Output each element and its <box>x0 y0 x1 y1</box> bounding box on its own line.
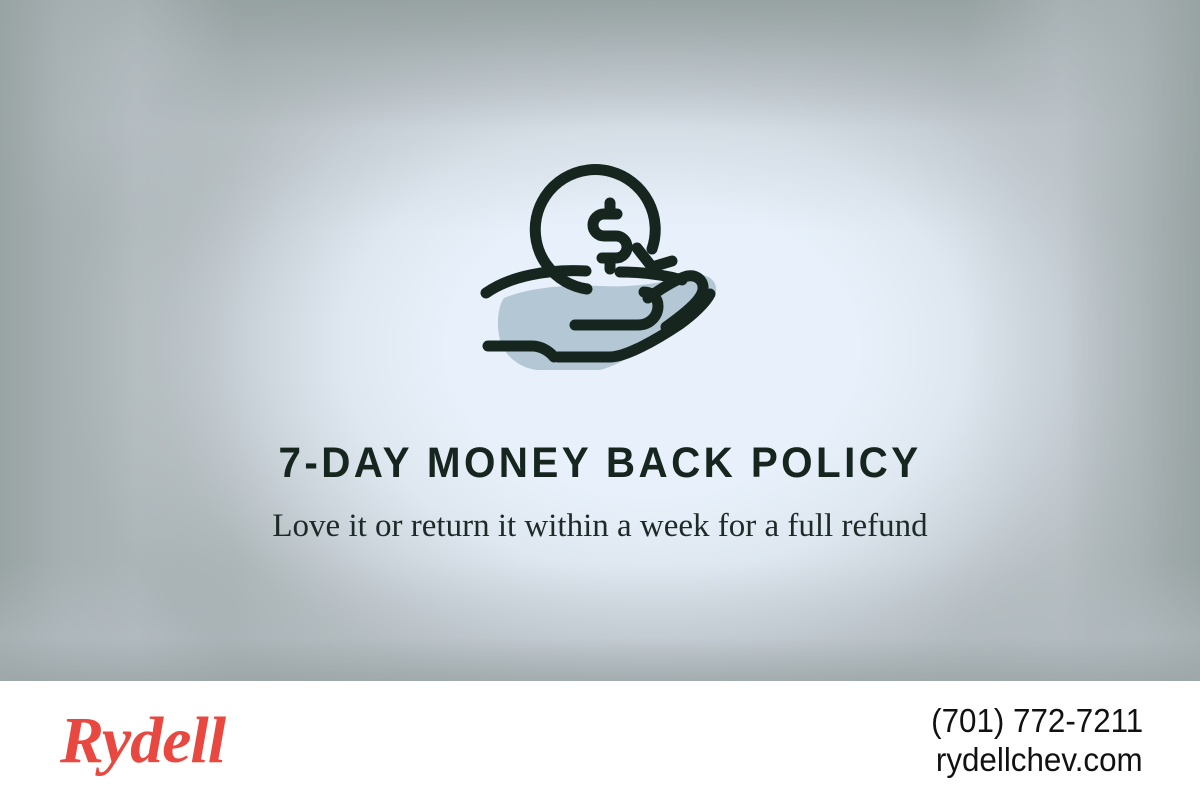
money-back-policy-ad: 7-DAY MONEY BACK POLICY Love it or retur… <box>0 0 1200 800</box>
hero-content: 7-DAY MONEY BACK POLICY Love it or retur… <box>0 0 1200 681</box>
website-url[interactable]: rydellchev.com <box>936 741 1143 779</box>
contact-block: (701) 772-7211 rydellchev.com <box>920 702 1143 779</box>
phone-number[interactable]: (701) 772-7211 <box>931 702 1143 740</box>
rydell-logo[interactable]: Rydell <box>60 708 225 774</box>
money-back-hand-icon <box>470 150 730 395</box>
footer-bar: Rydell (701) 772-7211 rydellchev.com <box>0 681 1200 800</box>
subtitle-text: Love it or return it within a week for a… <box>250 504 950 548</box>
page-title: 7-DAY MONEY BACK POLICY <box>278 439 921 488</box>
dollar-glyph-s <box>593 214 627 258</box>
